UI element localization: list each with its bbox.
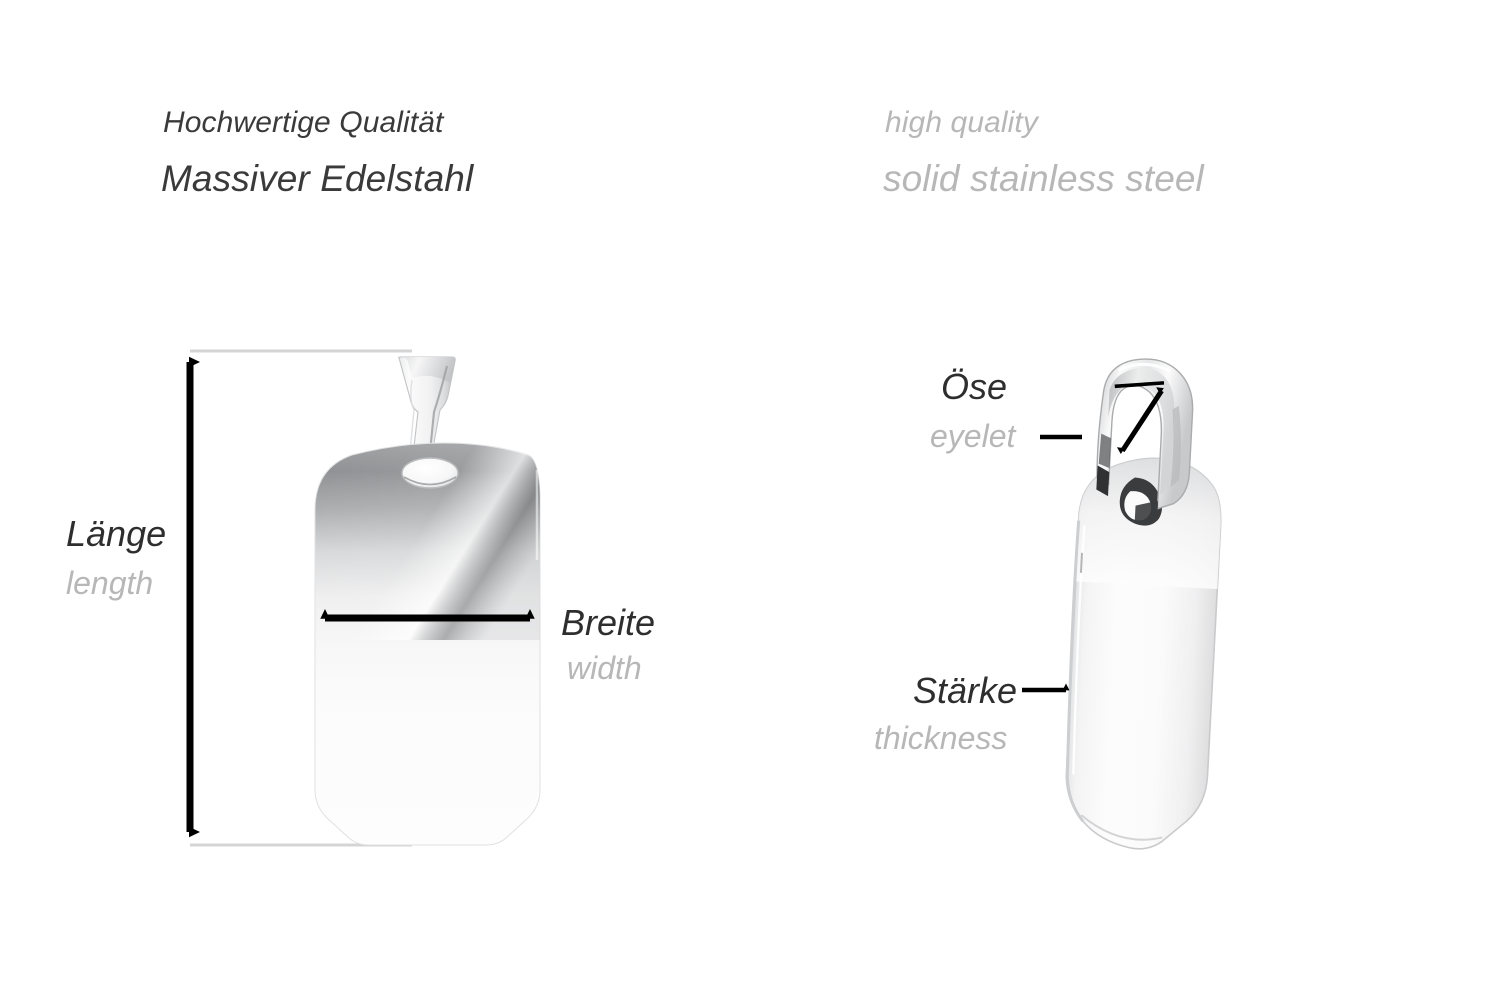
pendant-front-view-group	[190, 351, 540, 845]
diagram-artwork	[0, 0, 1500, 1001]
label-thickness-en: thickness	[874, 722, 1007, 754]
tag-hole-front	[402, 458, 458, 488]
label-length-en: length	[66, 567, 153, 599]
headline-german-title: Massiver Edelstahl	[161, 160, 473, 197]
pendant-side-view-group	[1022, 356, 1229, 852]
tag-front-body	[315, 443, 540, 845]
eyelet-dimension-arrow	[1122, 389, 1161, 453]
label-length-de: Länge	[66, 516, 166, 552]
bail-front	[399, 357, 456, 464]
bail-side	[1094, 357, 1195, 527]
label-thickness-de: Stärke	[913, 673, 1017, 709]
headline-english-subtitle: high quality	[885, 108, 1038, 138]
headline-german-subtitle: Hochwertige Qualität	[163, 108, 443, 138]
tag-hole-side	[1119, 477, 1164, 527]
label-eyelet-en: eyelet	[930, 420, 1015, 452]
product-spec-diagram: Hochwertige Qualität Massiver Edelstahl …	[0, 0, 1500, 1001]
headline-english-title: solid stainless steel	[883, 160, 1204, 197]
label-eyelet-de: Öse	[941, 369, 1007, 405]
tag-side-body	[1061, 454, 1224, 852]
eyelet-top-tick	[1115, 380, 1164, 389]
label-width-en: width	[567, 652, 642, 684]
label-width-de: Breite	[561, 605, 655, 641]
